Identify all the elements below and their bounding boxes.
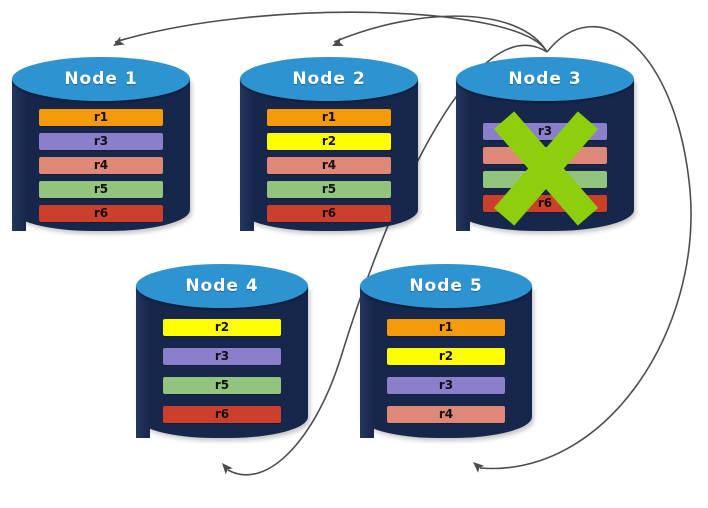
replica-list: r3 r4 r5 r6 [456,123,634,212]
node-node-2[interactable]: r1 r2 r4 r5 r6 Node 2 [240,57,418,231]
replica-bar[interactable]: r1 [267,109,391,126]
node-node-3[interactable]: r3 r4 r5 r6 Node 3 [456,57,634,231]
replica-bar[interactable]: r4 [267,157,391,174]
node-label: Node 5 [360,276,532,296]
replica-bar[interactable]: r5 [267,181,391,198]
replica-bar[interactable]: r4 [39,157,163,174]
node-top-disc: Node 4 [136,264,308,308]
replica-bar[interactable]: r6 [163,406,281,423]
replica-bar[interactable]: r3 [483,123,607,140]
replica-bar[interactable]: r2 [163,319,281,336]
node-top-disc: Node 1 [12,57,190,101]
node-top-disc: Node 5 [360,264,532,308]
edge-node3-to-node2 [334,16,547,52]
node-label: Node 4 [136,276,308,296]
replica-bar[interactable]: r1 [387,319,505,336]
replica-bar[interactable]: r5 [163,377,281,394]
node-label: Node 3 [456,69,634,89]
replica-bar[interactable]: r6 [267,205,391,222]
node-body: r1 r3 r4 r5 r6 [12,79,190,231]
replica-bar[interactable]: r3 [387,377,505,394]
replica-list: r1 r2 r3 r4 [360,319,532,423]
diagram-canvas: r1 r3 r4 r5 r6 Node 1 r1 r2 r4 r5 r6 Nod… [0,0,708,508]
edge-node3-to-node5-arrowhead-icon [470,459,484,473]
node-body: r2 r3 r5 r6 [136,286,308,438]
replica-bar[interactable]: r3 [39,133,163,150]
replica-list: r1 r3 r4 r5 r6 [12,109,190,222]
replica-list: r2 r3 r5 r6 [136,319,308,423]
replica-bar[interactable]: r5 [39,181,163,198]
replica-bar[interactable]: r4 [387,406,505,423]
replica-bar[interactable]: r1 [39,109,163,126]
node-body: r3 r4 r5 r6 [456,79,634,231]
replica-bar[interactable]: r6 [483,195,607,212]
node-body: r1 r2 r4 r5 r6 [240,79,418,231]
edge-node3-to-node4-arrowhead-icon [219,460,233,474]
node-label: Node 2 [240,69,418,89]
edge-node3-to-node2-arrowhead-icon [330,37,344,50]
replica-bar[interactable]: r6 [39,205,163,222]
replica-bar[interactable]: r4 [483,147,607,164]
replica-bar[interactable]: r2 [267,133,391,150]
node-top-disc: Node 2 [240,57,418,101]
edge-node3-to-node1-arrowhead-icon [111,36,125,50]
replica-bar[interactable]: r2 [387,348,505,365]
node-node-5[interactable]: r1 r2 r3 r4 Node 5 [360,264,532,438]
replica-bar[interactable]: r5 [483,171,607,188]
edge-node3-to-node1 [115,12,547,52]
node-label: Node 1 [12,69,190,89]
node-node-1[interactable]: r1 r3 r4 r5 r6 Node 1 [12,57,190,231]
node-body: r1 r2 r3 r4 [360,286,532,438]
replica-bar[interactable]: r3 [163,348,281,365]
node-top-disc: Node 3 [456,57,634,101]
replica-list: r1 r2 r4 r5 r6 [240,109,418,222]
node-node-4[interactable]: r2 r3 r5 r6 Node 4 [136,264,308,438]
